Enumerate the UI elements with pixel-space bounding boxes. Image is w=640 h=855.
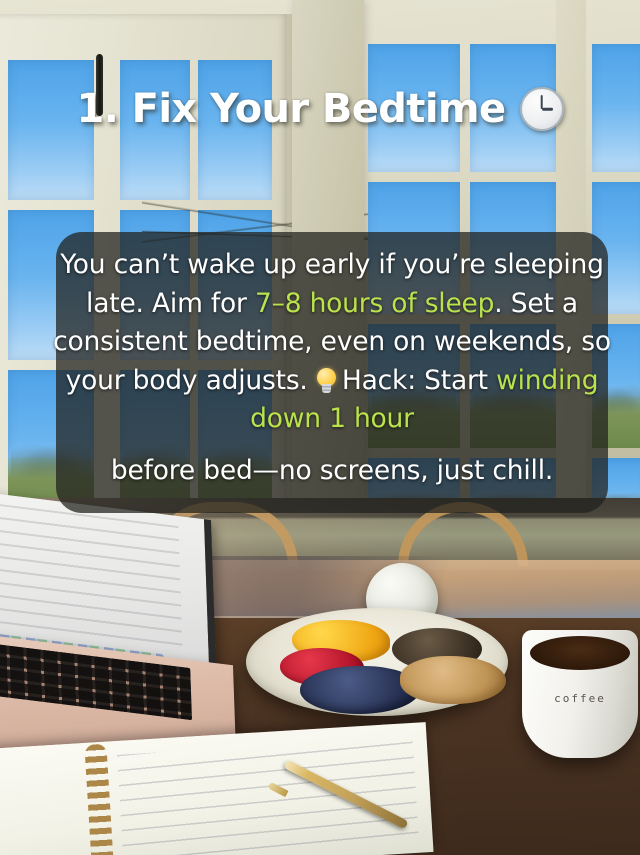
- laptop-document-lines: [0, 500, 183, 656]
- coffee-surface: [530, 636, 630, 670]
- lightbulb-icon: [316, 368, 337, 394]
- line-spacer: [40, 439, 624, 452]
- mixed-nuts-pile: [400, 656, 506, 704]
- clock-icon: [520, 87, 564, 131]
- handwriting-lines: [117, 737, 419, 855]
- overlay-line-5-plain: Hack: Start: [342, 365, 496, 396]
- overlay-line-3-highlight: sleep: [425, 288, 495, 319]
- overlay-line-2-highlight: 7–8 hours of: [255, 288, 416, 319]
- overlay-body-text: You can’t wake up early if you’re sleepi…: [40, 246, 624, 490]
- coffee-mug: coffee: [522, 630, 638, 758]
- overlay-line-1: You can’t wake up early if you’re: [60, 249, 485, 280]
- overlay-line-6: before bed—no screens, just chill.: [111, 455, 553, 486]
- title-row: 1. Fix Your Bedtime: [0, 86, 640, 132]
- lightbulb-base: [322, 384, 331, 393]
- notebook-spiral: [84, 744, 114, 855]
- mug-label: coffee: [522, 692, 638, 705]
- page-title: 1. Fix Your Bedtime: [76, 86, 505, 132]
- screenshot-canvas: coffee 1. Fix Your Bedtime You can’t wak…: [0, 0, 640, 855]
